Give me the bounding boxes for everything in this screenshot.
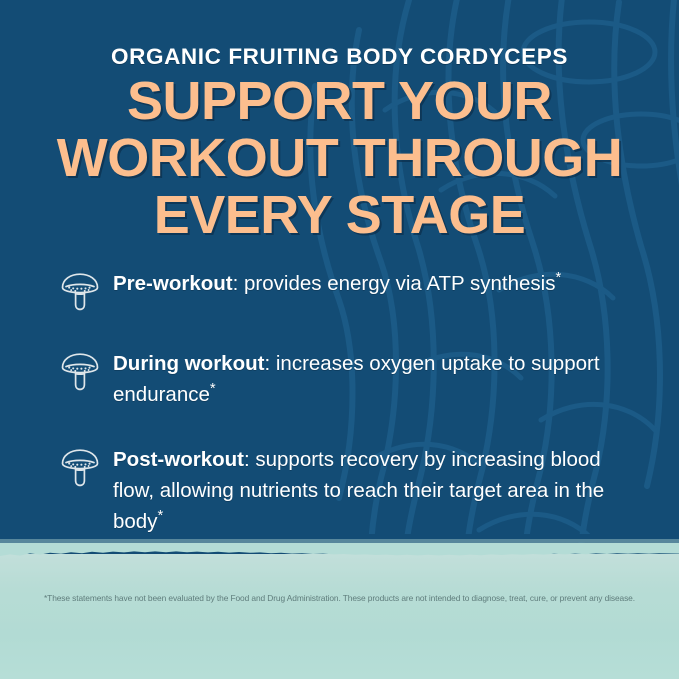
footnote-marker: * xyxy=(210,381,216,397)
list-item: During workout: increases oxygen uptake … xyxy=(57,348,637,410)
headline-line-3: EVERY STAGE xyxy=(0,187,679,244)
mushroom-icon xyxy=(57,270,103,314)
list-item: Pre-workout: provides energy via ATP syn… xyxy=(57,268,637,314)
benefit-separator: : xyxy=(244,448,255,471)
benefit-separator: : xyxy=(233,272,244,295)
footnote-marker: * xyxy=(555,270,561,286)
product-info-poster: ORGANIC FRUITING BODY CORDYCEPS SUPPORT … xyxy=(0,0,679,679)
eyebrow-text: ORGANIC FRUITING BODY CORDYCEPS xyxy=(0,44,679,70)
benefit-label: During workout xyxy=(113,352,264,375)
benefit-text: Post-workout: supports recovery by incre… xyxy=(103,444,633,537)
mushroom-icon xyxy=(57,350,103,394)
footnote-marker: * xyxy=(157,508,163,524)
benefit-description: provides energy via ATP synthesis xyxy=(244,272,555,295)
page-title: SUPPORT YOUR WORKOUT THROUGH EVERY STAGE xyxy=(0,73,679,244)
torn-paper-edge-divider xyxy=(0,534,679,574)
mushroom-icon xyxy=(57,446,103,490)
list-item: Post-workout: supports recovery by incre… xyxy=(57,444,637,537)
hero-content-area: ORGANIC FRUITING BODY CORDYCEPS SUPPORT … xyxy=(0,0,679,600)
benefit-text: Pre-workout: provides energy via ATP syn… xyxy=(103,268,561,299)
benefit-separator: : xyxy=(264,352,275,375)
benefit-text: During workout: increases oxygen uptake … xyxy=(103,348,633,410)
disclaimer-text: *These statements have not been evaluate… xyxy=(27,593,652,604)
footer-disclaimer: *These statements have not been evaluate… xyxy=(0,574,679,679)
benefit-list: Pre-workout: provides energy via ATP syn… xyxy=(57,268,637,537)
headline-line-2: WORKOUT THROUGH xyxy=(0,130,679,187)
headline-line-1: SUPPORT YOUR xyxy=(0,73,679,130)
benefit-label: Pre-workout xyxy=(113,272,233,295)
benefit-label: Post-workout xyxy=(113,448,244,471)
